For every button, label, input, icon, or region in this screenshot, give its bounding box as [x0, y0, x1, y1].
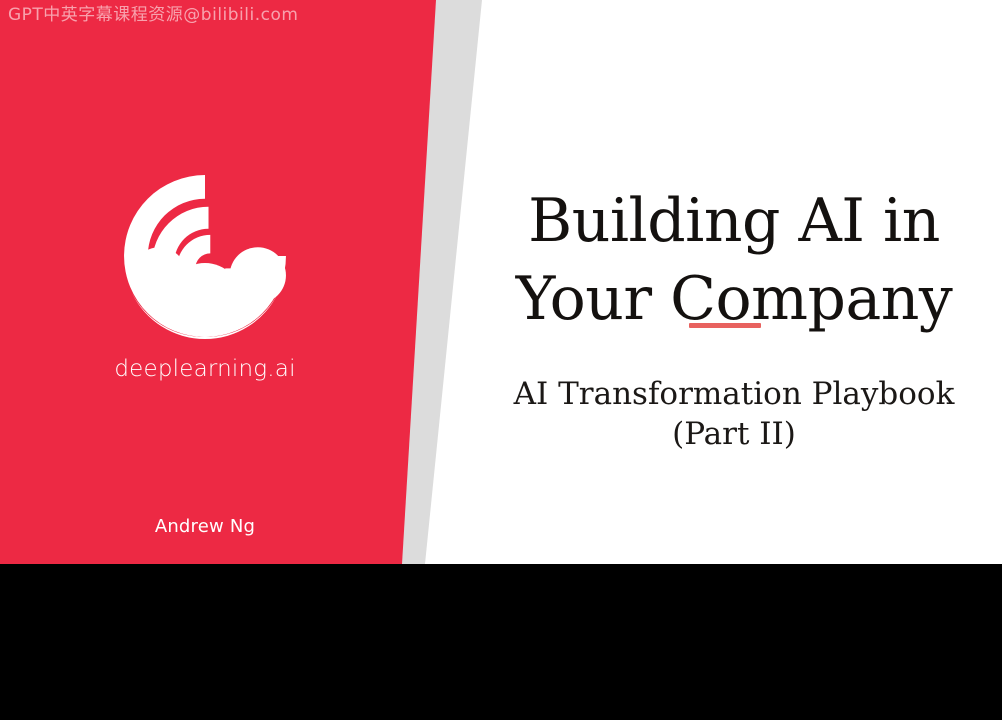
- presentation-slide: GPT中英字幕课程资源@bilibili.com: [0, 0, 1002, 564]
- slide-content-column: Building AI in Your Company AI Transform…: [484, 0, 984, 564]
- slide-title: Building AI in Your Company: [484, 182, 984, 338]
- slide-subtitle: AI Transformation Playbook (Part II): [484, 374, 984, 454]
- slide-subtitle-line-1: AI Transformation Playbook: [484, 374, 984, 414]
- title-divider-rule: [689, 323, 761, 328]
- brand-block: deeplearning.ai: [0, 168, 410, 382]
- slide-subtitle-line-2: (Part II): [484, 414, 984, 454]
- brand-name-label: deeplearning.ai: [0, 356, 410, 382]
- video-player-frame: GPT中英字幕课程资源@bilibili.com: [0, 0, 1002, 720]
- author-name-label: Andrew Ng: [0, 516, 410, 537]
- video-letterbox-bottom: [0, 564, 1002, 720]
- deeplearning-ai-spiral-logo: [117, 168, 293, 344]
- slide-title-line-1: Building AI in: [484, 182, 984, 260]
